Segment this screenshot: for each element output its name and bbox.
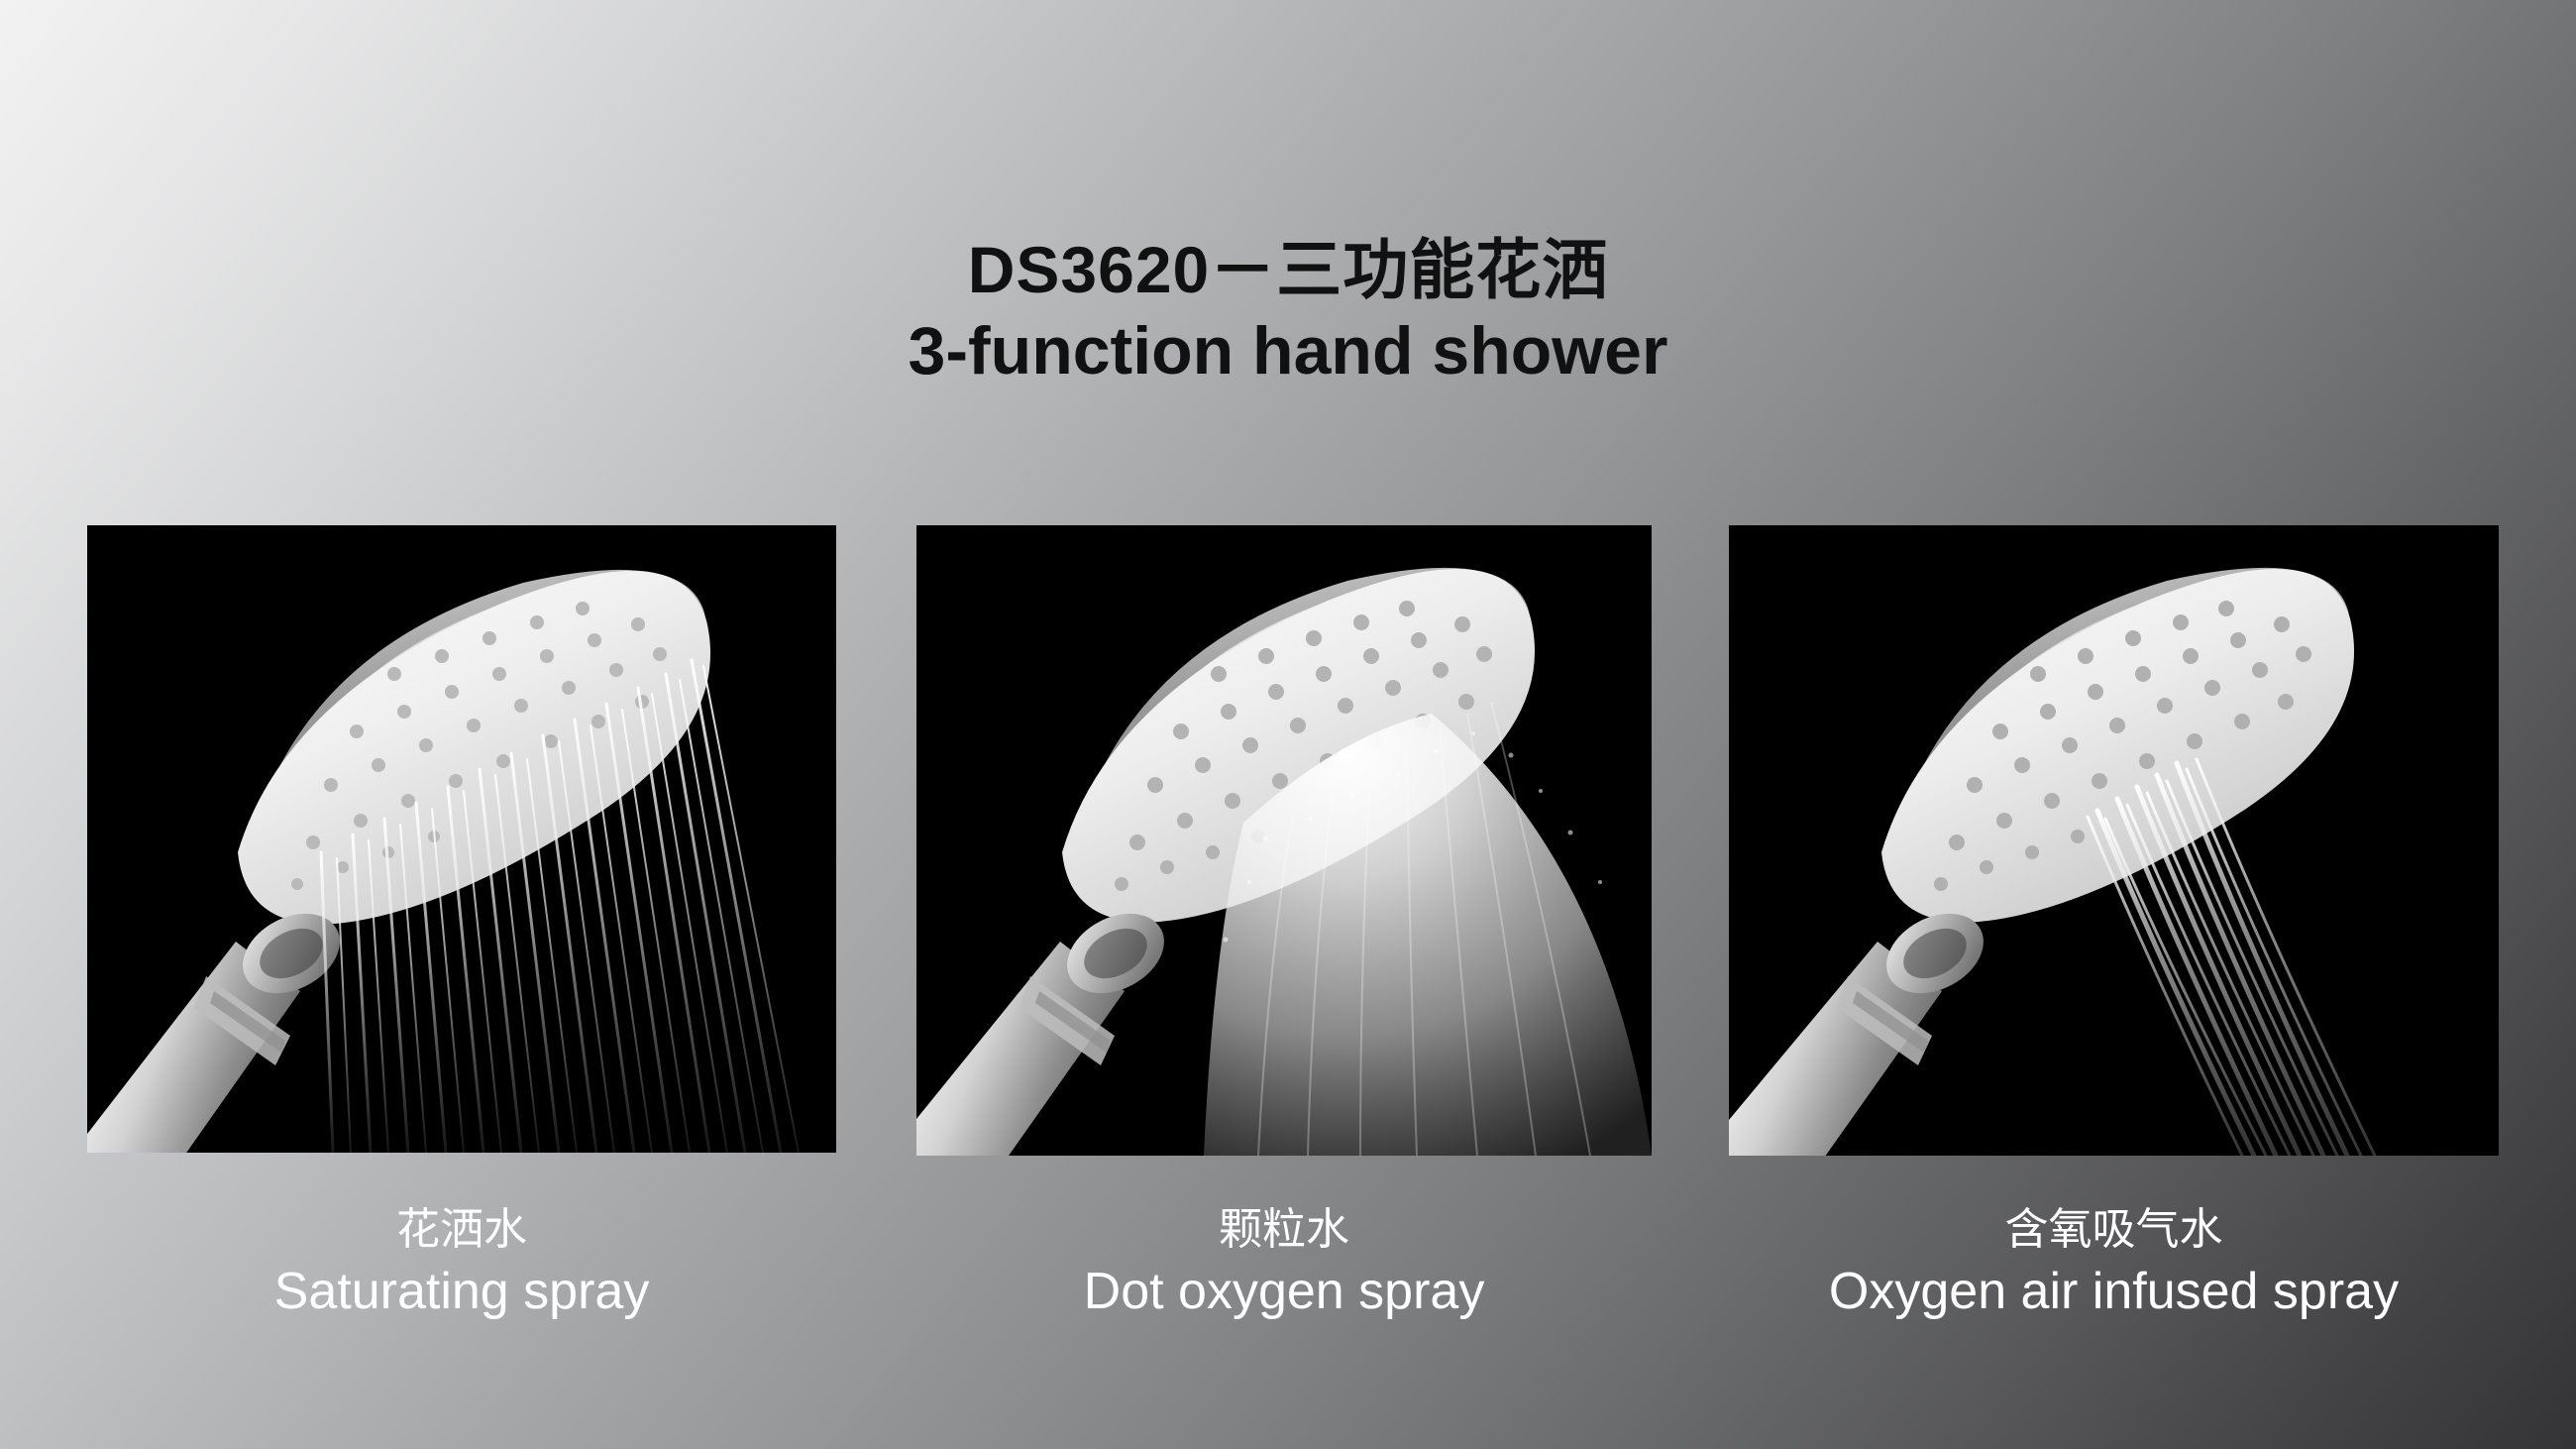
product-panel-dot-oxygen[interactable] xyxy=(916,525,1652,1156)
panel-caption-oxygen-air: 含氧吸气水 Oxygen air infused spray xyxy=(1729,1204,2499,1322)
shower-illustration-oxygen-air xyxy=(1729,525,2499,1156)
caption-english: Saturating spray xyxy=(87,1262,836,1322)
product-photo-oxygen-air xyxy=(1729,525,2499,1156)
panel-caption-dot-oxygen: 颗粒水 Dot oxygen spray xyxy=(916,1204,1652,1322)
product-photo-dot-oxygen xyxy=(916,525,1652,1156)
product-panel-oxygen-air[interactable] xyxy=(1729,525,2499,1156)
caption-chinese: 颗粒水 xyxy=(916,1204,1652,1256)
product-slide: DS3620－三功能花洒 3-function hand shower xyxy=(0,0,2576,1449)
shower-illustration-dot-oxygen xyxy=(916,525,1652,1156)
panel-caption-saturating: 花洒水 Saturating spray xyxy=(87,1204,836,1322)
caption-english: Oxygen air infused spray xyxy=(1729,1262,2499,1322)
caption-english: Dot oxygen spray xyxy=(916,1262,1652,1322)
product-panel-saturating[interactable] xyxy=(87,525,836,1153)
shower-illustration-saturating xyxy=(87,525,836,1153)
caption-chinese: 花洒水 xyxy=(87,1204,836,1256)
product-photo-saturating xyxy=(87,525,836,1153)
caption-chinese: 含氧吸气水 xyxy=(1729,1204,2499,1256)
